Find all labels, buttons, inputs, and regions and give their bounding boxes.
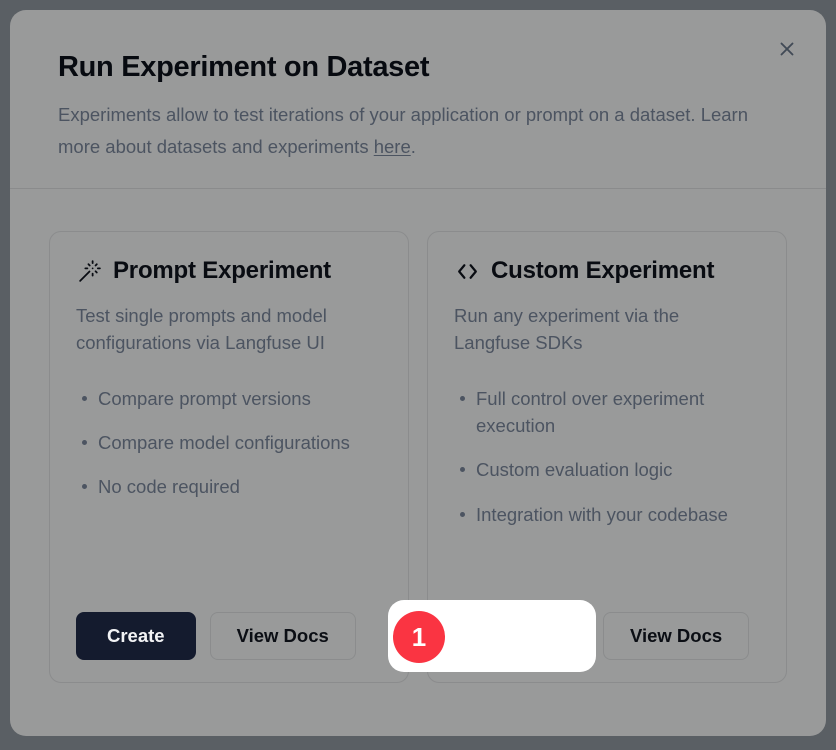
wand-sparkles-icon (76, 259, 102, 285)
dialog-description-text-after: . (411, 136, 416, 157)
learn-more-link[interactable]: here (374, 136, 411, 157)
card-description: Test single prompts and model configurat… (76, 302, 382, 357)
list-item: No code required (98, 473, 382, 500)
card-header: Custom Experiment (454, 258, 760, 284)
code-brackets-icon (454, 259, 480, 285)
card-title: Prompt Experiment (113, 258, 331, 284)
close-icon (777, 39, 797, 62)
close-button[interactable] (775, 38, 799, 62)
card-feature-list: Full control over experiment execution C… (454, 385, 760, 546)
card-header: Prompt Experiment (76, 258, 382, 284)
card-title: Custom Experiment (491, 258, 714, 284)
card-description: Run any experiment via the Langfuse SDKs (454, 302, 760, 357)
view-docs-button-custom[interactable]: View Docs (603, 612, 749, 660)
list-item: Full control over experiment execution (476, 385, 760, 440)
list-item: Integration with your codebase (476, 501, 760, 528)
card-prompt-experiment[interactable]: Prompt Experiment Test single prompts an… (49, 231, 409, 683)
view-docs-button-prompt[interactable]: View Docs (210, 612, 356, 660)
card-feature-list: Compare prompt versions Compare model co… (76, 385, 382, 518)
create-button[interactable]: Create (76, 612, 196, 660)
dialog-header: Run Experiment on Dataset Experiments al… (10, 10, 826, 189)
list-item: Compare prompt versions (98, 385, 382, 412)
list-item: Custom evaluation logic (476, 456, 760, 483)
card-actions: Create View Docs (76, 612, 382, 660)
page-title: Run Experiment on Dataset (58, 50, 778, 85)
annotation-badge: 1 (393, 611, 445, 663)
list-item: Compare model configurations (98, 429, 382, 456)
dialog-description: Experiments allow to test iterations of … (58, 99, 748, 163)
